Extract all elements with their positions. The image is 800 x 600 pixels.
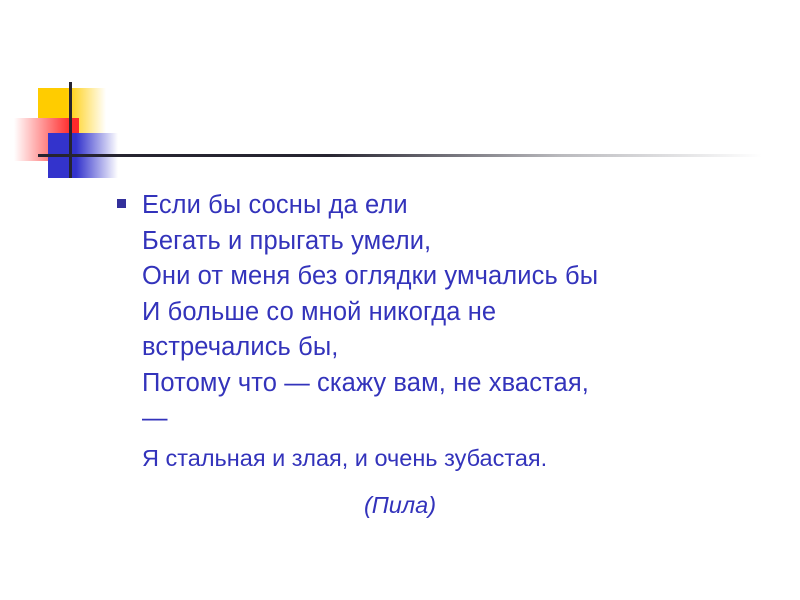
square-bullet-icon bbox=[117, 199, 126, 208]
bullet-list-item: Если бы сосны да ели Бегать и прыгать ум… bbox=[117, 188, 800, 437]
riddle-stanza: Если бы сосны да ели Бегать и прыгать ум… bbox=[117, 188, 800, 437]
horizontal-rule bbox=[38, 154, 762, 157]
riddle-answer: (Пила) bbox=[0, 490, 800, 520]
vertical-rule bbox=[69, 82, 72, 178]
slide-canvas: Если бы сосны да ели Бегать и прыгать ум… bbox=[0, 0, 800, 600]
riddle-closing-line: Я стальная и злая, и очень зубастая. bbox=[142, 443, 547, 473]
decorative-header-ornament bbox=[0, 0, 800, 185]
